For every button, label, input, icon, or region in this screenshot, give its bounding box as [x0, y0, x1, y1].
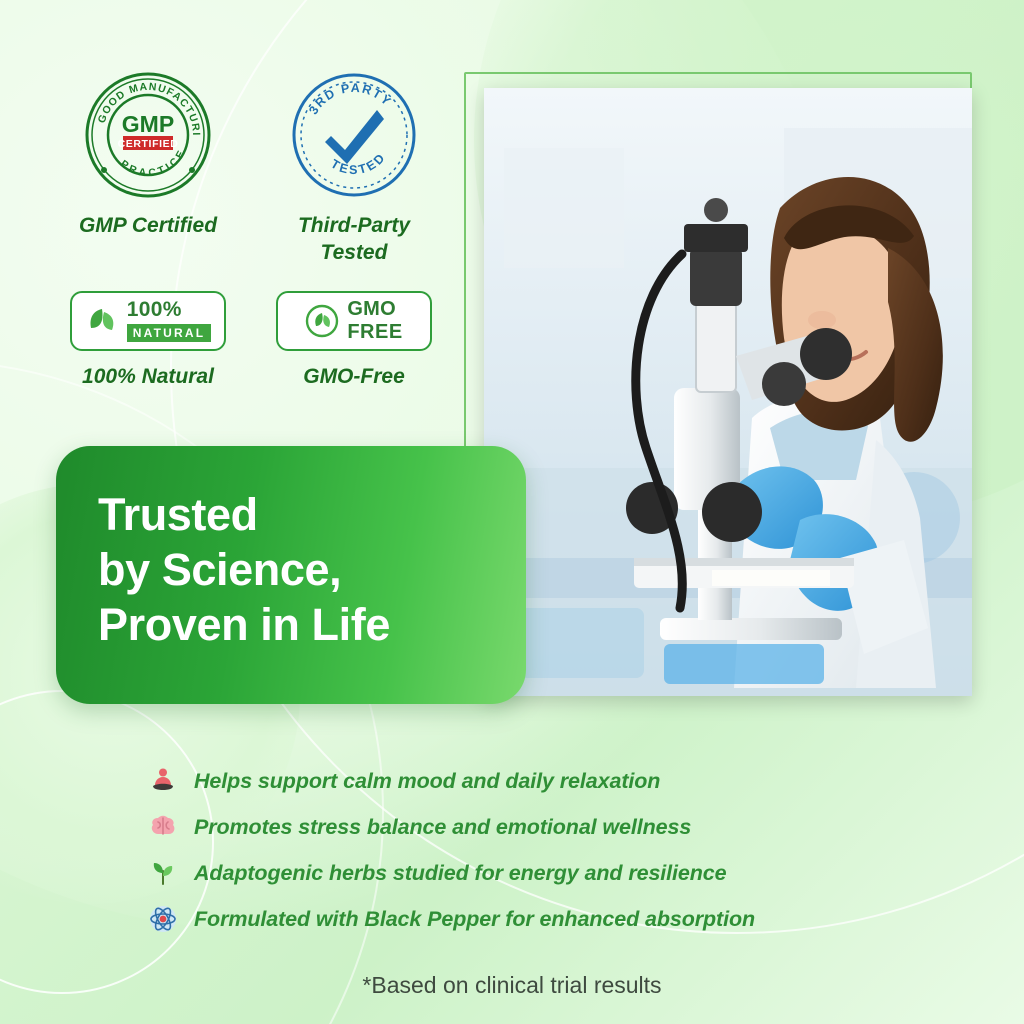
- gmo-pill-line2: FREE: [347, 322, 402, 342]
- footnote-text: *Based on clinical trial results: [0, 972, 1024, 999]
- badge-third-party: 3RD PARTY TESTED Third-Party Tested: [270, 70, 438, 267]
- brain-icon: [148, 812, 178, 842]
- headline-text: Trusted by Science, Proven in Life: [98, 488, 390, 653]
- headline-panel: Trusted by Science, Proven in Life: [56, 446, 526, 704]
- benefit-item: Adaptogenic herbs studied for energy and…: [148, 850, 928, 896]
- badge-row-top: GOOD MANUFACTURING PRACTICE GMP CERTIFIE…: [64, 70, 444, 267]
- badge-gmo-free-caption: GMO-Free: [270, 363, 438, 390]
- herb-leaf-icon: [148, 858, 178, 888]
- badge-gmp: GOOD MANUFACTURING PRACTICE GMP CERTIFIE…: [64, 70, 232, 267]
- badge-gmo-free: GMO FREE GMO-Free: [270, 291, 438, 390]
- benefit-item: Promotes stress balance and emotional we…: [148, 804, 928, 850]
- benefits-list: Helps support calm mood and daily relaxa…: [148, 758, 928, 942]
- third-party-seal-icon: 3RD PARTY TESTED: [289, 70, 419, 200]
- svg-text:GMP: GMP: [122, 111, 174, 137]
- badge-natural: 100% NATURAL 100% Natural: [64, 291, 232, 390]
- benefit-text: Adaptogenic herbs studied for energy and…: [194, 861, 727, 886]
- benefit-text: Helps support calm mood and daily relaxa…: [194, 769, 660, 794]
- trust-badges: GOOD MANUFACTURING PRACTICE GMP CERTIFIE…: [64, 70, 444, 390]
- natural-pill-line1: 100%: [127, 299, 182, 320]
- badge-row-bottom: 100% NATURAL 100% Natural GMO FREE: [64, 291, 444, 390]
- leaf-circle-icon: [305, 304, 339, 338]
- poster-canvas: GOOD MANUFACTURING PRACTICE GMP CERTIFIE…: [0, 0, 1024, 1024]
- benefit-text: Promotes stress balance and emotional we…: [194, 815, 691, 840]
- benefit-item: Formulated with Black Pepper for enhance…: [148, 896, 928, 942]
- gmo-pill-line1: GMO: [347, 299, 396, 319]
- atom-icon: [148, 904, 178, 934]
- meditation-icon: [148, 766, 178, 796]
- svg-text:CERTIFIED: CERTIFIED: [118, 138, 179, 150]
- badge-third-party-caption: Third-Party Tested: [270, 212, 438, 267]
- svg-text:PRACTICE: PRACTICE: [118, 146, 189, 179]
- gmo-free-pill-icon: GMO FREE: [276, 291, 432, 351]
- natural-pill-icon: 100% NATURAL: [70, 291, 226, 351]
- gmp-seal-icon: GOOD MANUFACTURING PRACTICE GMP CERTIFIE…: [83, 70, 213, 200]
- scientist-at-microscope-photo: [484, 88, 972, 696]
- badge-gmp-caption: GMP Certified: [64, 212, 232, 239]
- leaf-icon: [85, 304, 119, 338]
- benefit-item: Helps support calm mood and daily relaxa…: [148, 758, 928, 804]
- natural-pill-line2: NATURAL: [127, 324, 212, 342]
- benefit-text: Formulated with Black Pepper for enhance…: [194, 907, 755, 932]
- badge-natural-caption: 100% Natural: [64, 363, 232, 390]
